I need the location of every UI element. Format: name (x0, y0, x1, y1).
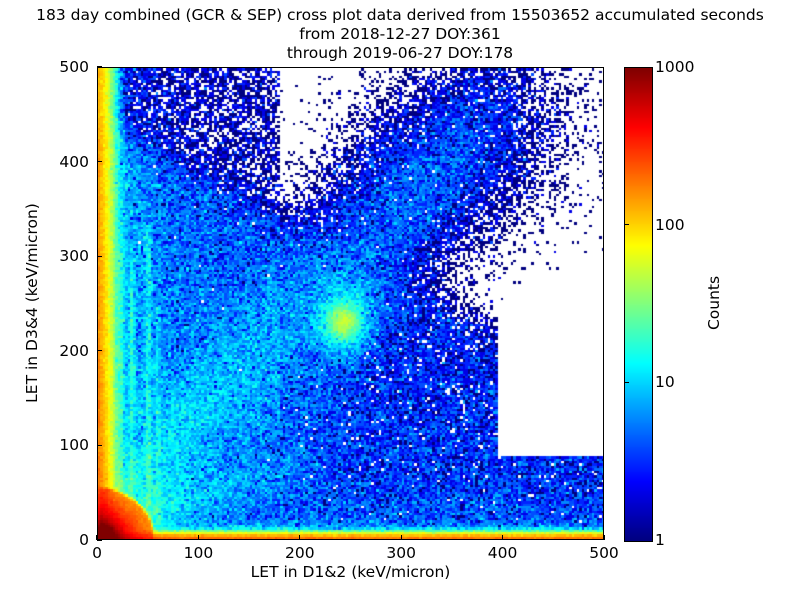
plot-axes-area (97, 67, 604, 540)
density-scatter-canvas (98, 68, 604, 540)
colorbar-tick-mark (624, 382, 629, 383)
y-tick-mark (97, 66, 102, 67)
x-tick-mark (401, 535, 402, 540)
x-tick-label: 500 (589, 544, 619, 562)
y-tick-label: 400 (41, 153, 89, 171)
y-tick-mark (97, 539, 102, 540)
x-tick-label: 0 (92, 544, 102, 562)
y-tick-label: 100 (41, 436, 89, 454)
colorbar-tick-label: 1 (655, 531, 665, 549)
scatter-plot-figure: 183 day combined (GCR & SEP) cross plot … (0, 0, 800, 600)
y-tick-label: 300 (41, 247, 89, 265)
y-axis-label-text: LET in D3&4 (keV/micron) (23, 203, 41, 403)
colorbar (624, 67, 651, 540)
y-tick-label: 500 (41, 58, 89, 76)
x-tick-label: 200 (285, 544, 315, 562)
chart-title: 183 day combined (GCR & SEP) cross plot … (0, 6, 800, 63)
x-tick-mark (299, 535, 300, 540)
title-line-2: from 2018-12-27 DOY:361 (0, 25, 800, 44)
colorbar-tick-label: 100 (655, 216, 685, 234)
title-line-1: 183 day combined (GCR & SEP) cross plot … (0, 6, 800, 25)
colorbar-tick-label: 1000 (655, 58, 694, 76)
y-tick-label: 200 (41, 342, 89, 360)
x-tick-label: 300 (386, 544, 416, 562)
x-tick-mark (198, 535, 199, 540)
x-tick-mark (502, 535, 503, 540)
y-tick-mark (97, 161, 102, 162)
colorbar-gradient (624, 67, 653, 542)
y-tick-label: 0 (41, 531, 89, 549)
y-tick-mark (97, 256, 102, 257)
x-axis-label: LET in D1&2 (keV/micron) (97, 563, 604, 581)
colorbar-tick-label: 10 (655, 373, 675, 391)
y-tick-mark (97, 445, 102, 446)
x-tick-mark (603, 535, 604, 540)
x-tick-label: 100 (184, 544, 214, 562)
y-tick-mark (97, 350, 102, 351)
x-tick-label: 400 (488, 544, 518, 562)
colorbar-label-text: Counts (705, 276, 723, 330)
colorbar-tick-mark (624, 224, 629, 225)
